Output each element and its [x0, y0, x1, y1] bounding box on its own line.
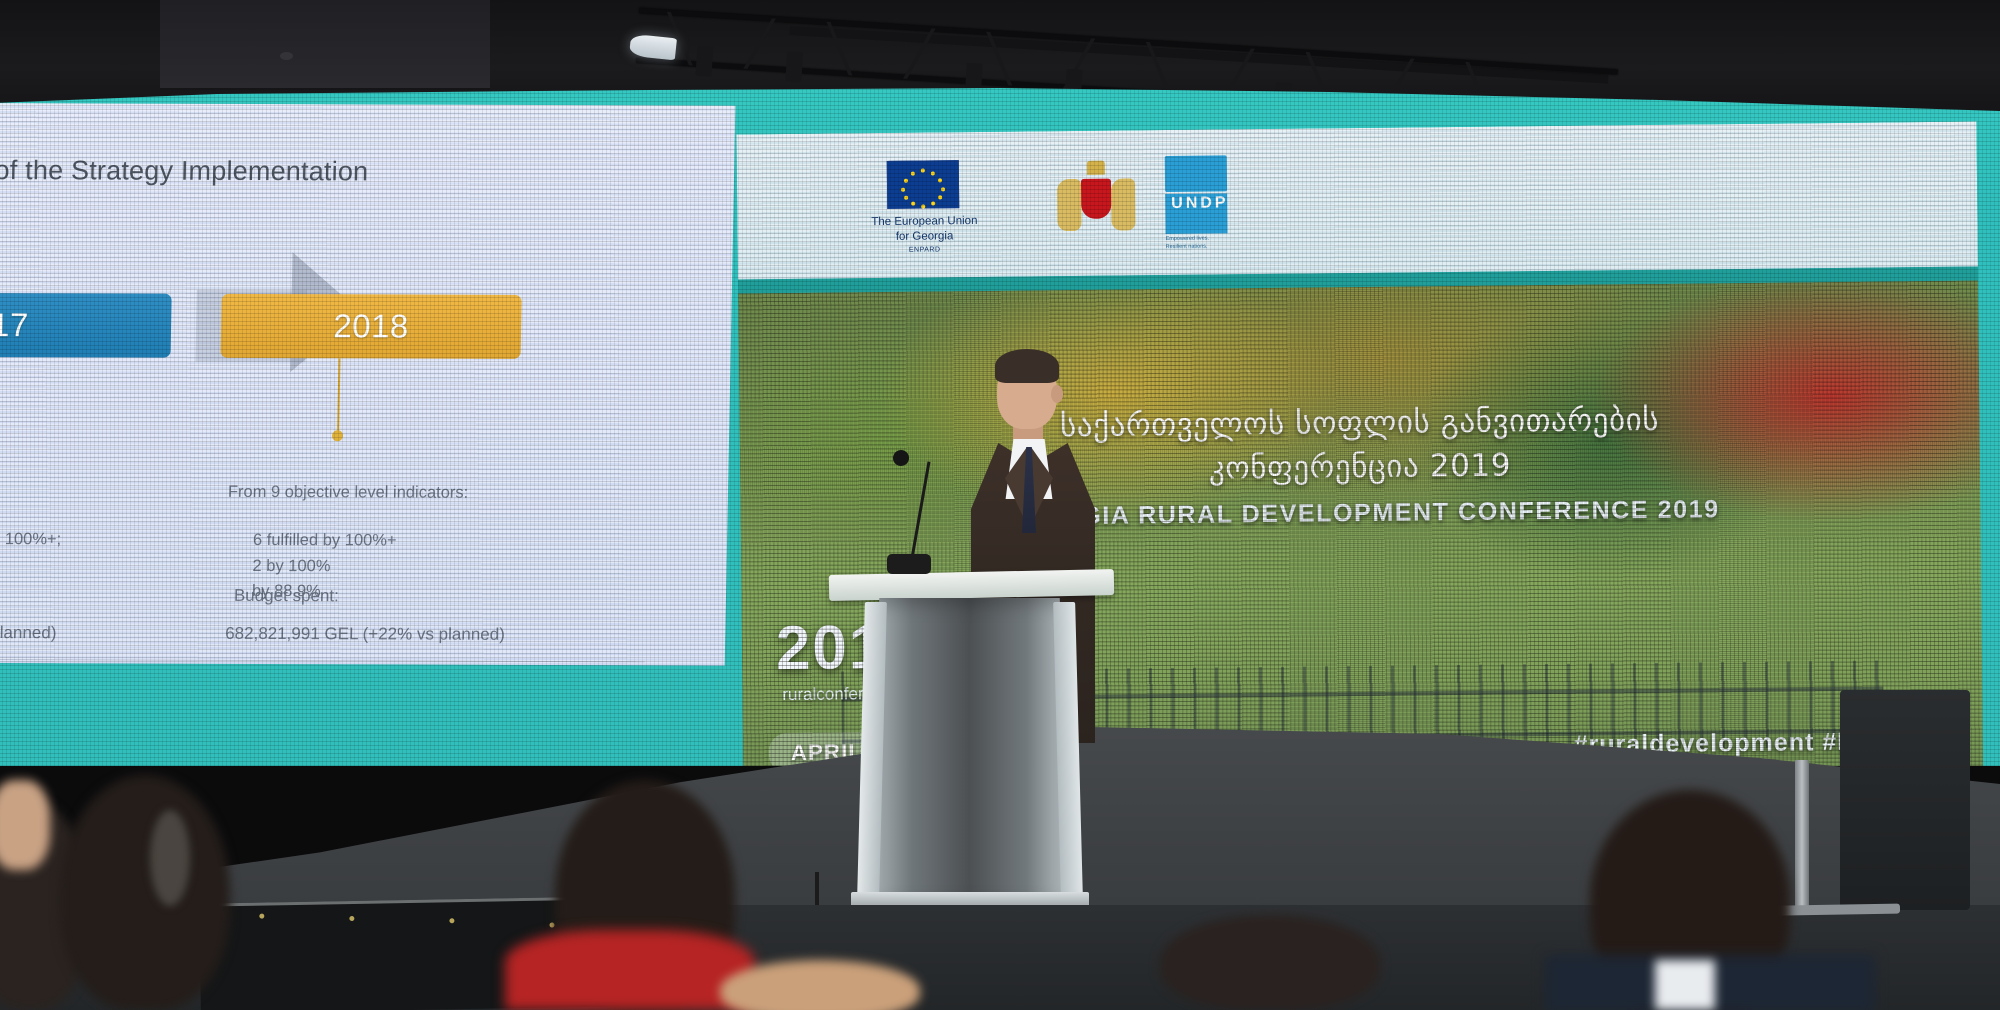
right-col-line-2: 2 by 100%	[226, 553, 607, 580]
undp-globe-icon	[1165, 155, 1227, 192]
left-slide-title: ults of the Strategy Implementation	[0, 155, 369, 187]
left-col-line-2: d partially;	[0, 552, 217, 579]
left-col-heading: level indicators:	[0, 479, 208, 506]
eu-flag-logo: The European Union for Georgia ENPARD	[887, 154, 960, 259]
undp-letters-block: UNDP	[1165, 193, 1227, 234]
audience-person	[60, 775, 230, 1010]
undp-logo: UNDP Empowered lives. Resilient nations.	[1165, 155, 1228, 246]
eu-flag-icon	[887, 160, 959, 209]
right-col-line-1: 6 fulfilled by 100%+	[227, 528, 608, 555]
lion-right-icon	[1111, 178, 1136, 230]
podium-desktop	[829, 569, 1114, 601]
podium	[845, 572, 1100, 942]
conference-title-ka-line1: საქართველოს სოფლის განვითარების	[739, 399, 1979, 448]
left-presentation-slide: ults of the Strategy Implementation 2017…	[0, 102, 735, 665]
speaker-ear	[1051, 385, 1063, 403]
undp-letters: UNDP	[1165, 193, 1227, 234]
stage-light-fixture	[695, 46, 713, 77]
undp-logo-caption: Empowered lives. Resilient nations.	[1166, 235, 1228, 251]
crown-icon	[1087, 161, 1105, 175]
audience-red-jacket	[505, 930, 755, 1010]
lion-left-icon	[1057, 179, 1082, 231]
audience-shirt-collar	[1655, 960, 1715, 1010]
left-col-line-3: lled.	[0, 578, 216, 605]
ceiling-light-dot	[280, 52, 293, 60]
eu-logo-caption: The European Union for Georgia	[861, 214, 987, 245]
pa-speaker-stand	[1795, 760, 1809, 910]
ceiling-recess	[160, 0, 490, 90]
microphone-base	[887, 554, 931, 574]
year-chip-2017: 2017	[0, 292, 172, 357]
conference-hall-scene: ults of the Strategy Implementation 2017…	[0, 0, 2000, 1010]
left-col-line-1: d by 100% or 100%+;	[0, 527, 217, 554]
right-col-budget-value: 682,821,991 GEL (+22% vs planned)	[225, 624, 505, 645]
shield-icon	[1081, 179, 1111, 219]
audience-raised-hand	[0, 780, 50, 870]
right-col-heading: From 9 objective level indicators:	[228, 480, 609, 507]
right-slide-header: The European Union for Georgia ENPARD	[736, 122, 1977, 280]
left-col-budget-value: EL (+38.3% vs planned)	[0, 623, 57, 644]
sponsor-logo-row: The European Union for Georgia ENPARD	[887, 152, 1208, 259]
georgia-coat-of-arms-logo	[1055, 150, 1138, 257]
right-col-budget-heading: Budget spent:	[234, 586, 339, 606]
podium-body	[867, 598, 1072, 898]
stage-light-fixture	[785, 51, 803, 82]
pa-speaker-box	[1840, 690, 1970, 910]
conference-title-en: GEORGIA RURAL DEVELOPMENT CONFERENCE 201…	[740, 493, 1980, 535]
audience-person	[1160, 915, 1380, 1010]
year-chip-2018: 2018	[220, 294, 521, 359]
eu-logo-subcaption: ENPARD	[862, 246, 988, 254]
audience-headset-icon	[150, 810, 190, 906]
speaker-hair	[995, 349, 1059, 383]
